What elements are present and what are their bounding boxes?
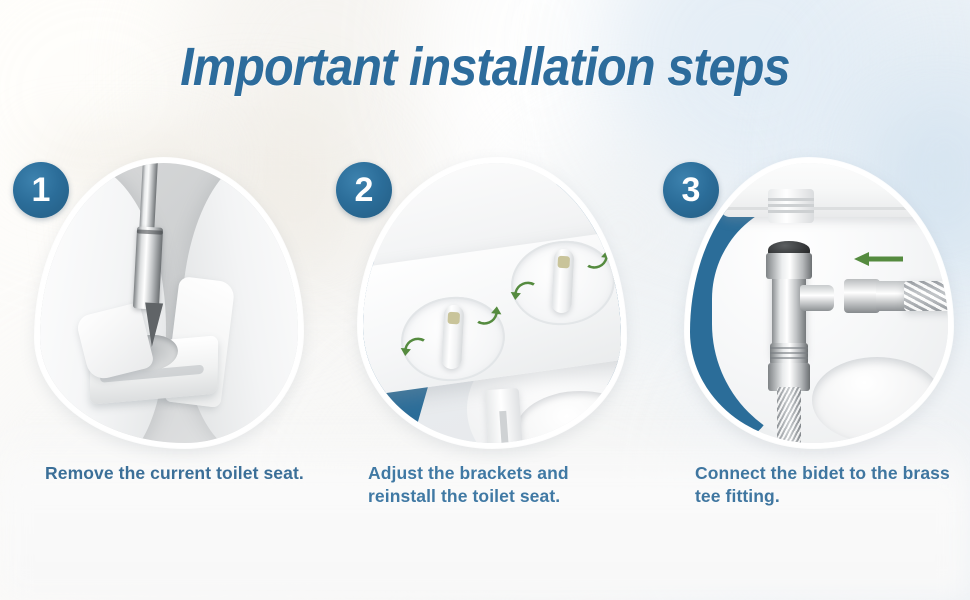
rotate-arrow-icon [398,334,431,367]
screwdriver-collar [133,226,163,309]
braided-hose-vertical [777,387,801,448]
blob-photo-mask-3 [685,158,953,448]
rotate-arrow-icon [580,239,613,272]
installation-steps-infographic: Important installation steps [0,0,970,600]
tank-inlet-nut [768,189,814,223]
screwdriver-tip [143,303,163,348]
step-image-frame-3 [685,158,953,448]
step-photo-3 [685,158,953,448]
knob-lever [551,249,574,314]
blob-photo-mask-1 [35,158,303,448]
steps-row: 1 Remove the current toilet seat. [0,150,970,570]
hose-coupling-nut [844,279,880,313]
step-card-1: 1 Remove the current toilet seat. [0,150,325,570]
toilet-tank-base [720,158,953,217]
brass-tee-side-outlet [800,285,834,311]
step-card-3: 3 Connect the bidet to the brass tee fit… [645,150,970,570]
blob-photo-mask-2 [358,158,626,448]
step-photo-1 [35,158,303,448]
rotate-arrow-icon [508,278,541,311]
left-arrow-icon [852,249,904,269]
step-image-frame-1 [35,158,303,448]
bracket-adjustment-knob-left [396,291,509,387]
page-title: Important installation steps [49,40,922,94]
bracket-adjustment-knob-right [506,235,619,331]
step-photo-2 [358,158,626,448]
step-caption-1: Remove the current toilet seat. [45,462,313,485]
brass-tee-bottom-thread [770,343,808,365]
step-caption-3: Connect the bidet to the brass tee fitti… [695,462,963,509]
step-caption-2: Adjust the brackets and reinstall the to… [368,462,636,509]
toilet-bowl-rim [812,357,942,443]
step-image-frame-2 [358,158,626,448]
bidet-mounting-post [485,388,524,448]
knob-lever [441,305,464,370]
step-card-2: 2 Adjust the brackets and reinstall the … [318,150,648,570]
braided-hose-horizontal [904,281,953,311]
step-number-badge-1: 1 [13,162,69,218]
brass-tee-top-hex-nut [766,253,812,279]
rotate-arrow-icon [470,295,503,328]
step-number-badge-2: 2 [336,162,392,218]
step-number-badge-3: 3 [663,162,719,218]
